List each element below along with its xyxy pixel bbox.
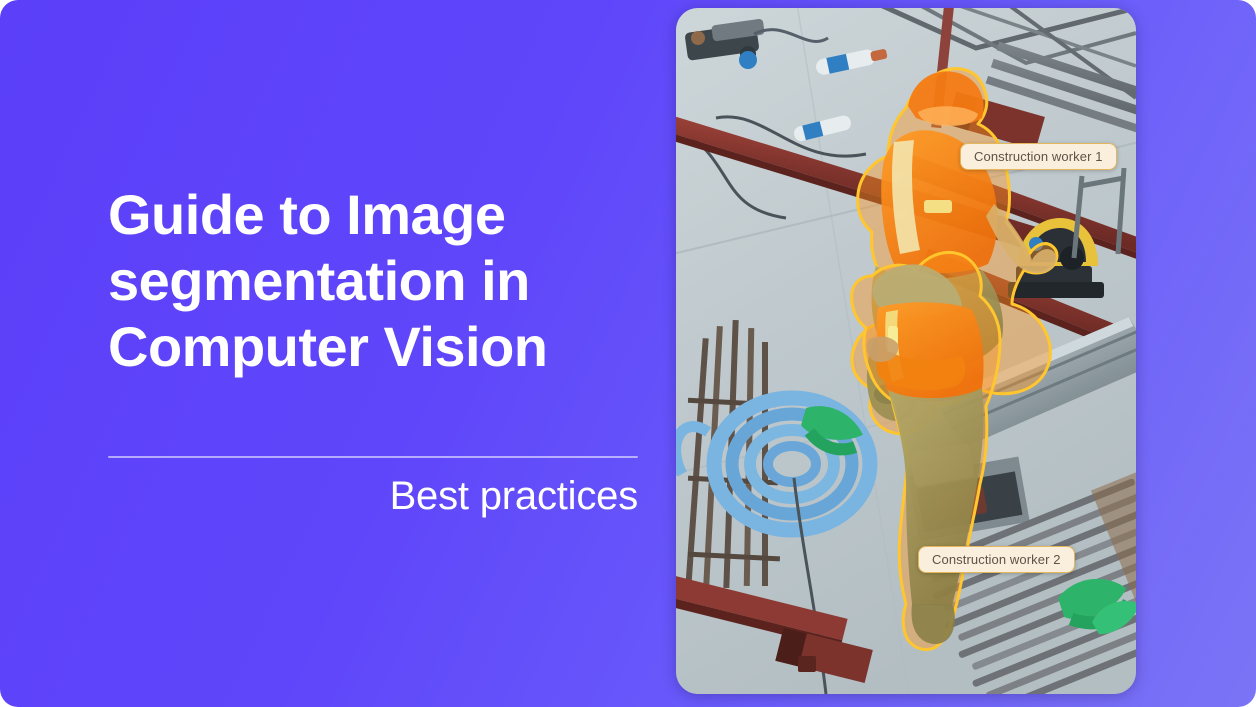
promo-banner: Guide to Image segmentation in Computer … [0, 0, 1256, 707]
page-title: Guide to Image segmentation in Computer … [108, 182, 640, 380]
segmentation-preview-panel: Construction worker 1 Construction worke… [676, 8, 1136, 694]
annotation-label-worker-2[interactable]: Construction worker 2 [918, 546, 1075, 573]
headline-block: Guide to Image segmentation in Computer … [108, 182, 640, 380]
annotation-label-worker-1[interactable]: Construction worker 1 [960, 143, 1117, 170]
subtitle: Best practices [108, 474, 638, 519]
construction-site-photo [676, 8, 1136, 694]
title-divider [108, 456, 638, 458]
